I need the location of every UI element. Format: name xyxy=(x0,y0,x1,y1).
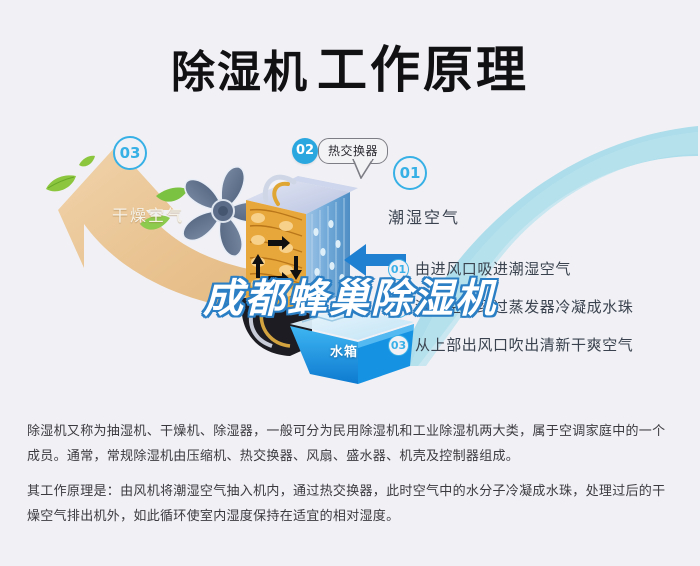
page-title-part2: 工作原理 xyxy=(317,41,529,99)
list-item: 03 从上部出风口吹出清新干爽空气 xyxy=(388,334,688,372)
leaf-icon xyxy=(78,154,96,173)
step-text: 由进风口吸进潮湿空气 xyxy=(415,258,571,279)
list-item: 02 潮湿空气经过蒸发器冷凝成水珠 xyxy=(388,296,688,334)
step-text: 潮湿空气经过蒸发器冷凝成水珠 xyxy=(415,296,633,317)
steps-list: 01 由进风口吸进潮湿空气 02 潮湿空气经过蒸发器冷凝成水珠 03 从上部出风… xyxy=(388,258,688,372)
badge-02: 02 xyxy=(292,138,318,164)
page-title: 除湿机工作原理 xyxy=(0,30,700,102)
page-title-part1: 除湿机 xyxy=(171,47,309,98)
step-text: 从上部出风口吹出清新干爽空气 xyxy=(415,334,633,355)
step-number: 02 xyxy=(388,297,409,318)
leaf-icon xyxy=(44,173,78,199)
water-tank-label: 水箱 xyxy=(330,341,358,360)
badge-03: 03 xyxy=(113,136,147,170)
list-item: 01 由进风口吸进潮湿空气 xyxy=(388,258,688,296)
humid-air-label: 潮湿空气 xyxy=(388,204,460,228)
infographic-page: 除湿机工作原理 xyxy=(0,0,700,566)
badge-01: 01 xyxy=(393,156,427,190)
description-paragraph-2: 其工作原理是：由风机将潮湿空气抽入机内，通过热交换器，此时空气中的水分子冷凝成水… xyxy=(27,479,677,529)
dry-air-label: 干燥空气 xyxy=(112,202,184,226)
step-number: 03 xyxy=(388,335,409,356)
step-number: 01 xyxy=(388,259,409,280)
description-paragraph-1: 除湿机又称为抽湿机、干燥机、除湿器，一般可分为民用除湿机和工业除湿机两大类，属于… xyxy=(27,419,677,469)
